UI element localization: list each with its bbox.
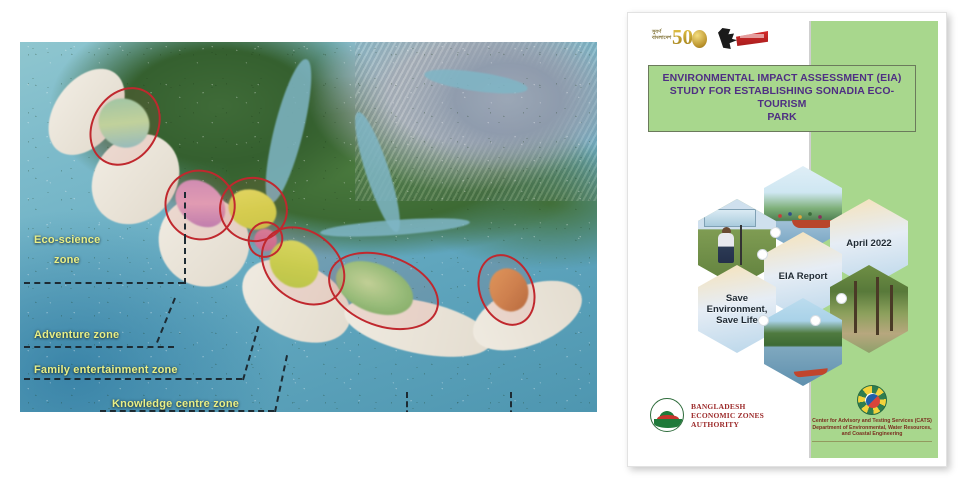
hex-connector-dot — [810, 315, 821, 326]
beza-logo-text: BANGLADESH ECONOMIC ZONES AUTHORITY — [691, 402, 764, 429]
report-title-line2: STUDY FOR ESTABLISHING SONADIA ECO-TOURI… — [653, 85, 911, 111]
eia-report-cover[interactable]: সুবর্ণবাংলাদেশ 50 ENVIRONMENTAL IMPACT A… — [627, 12, 947, 467]
mujib-silhouette-icon — [718, 28, 738, 49]
tree-trunk-icon — [876, 277, 879, 335]
zone-label-eco-science-line2: zone — [54, 254, 80, 266]
buet-seal-icon — [857, 385, 887, 415]
bangladesh-50-jubilee-logo: সুবর্ণবাংলাদেশ 50 — [652, 27, 704, 51]
jubilee-50-numeral: 50 — [672, 27, 693, 48]
zone-label-eco-science-line1: Eco-science — [34, 234, 100, 246]
hex-connector-dot — [757, 249, 768, 260]
hex-eia-report-label: EIA Report — [773, 271, 834, 282]
zone-label-family: Family entertainment zone — [34, 364, 178, 376]
mujib-borsho-logo — [718, 27, 772, 51]
hexagon-cluster: April 2022 EIA Report Save Environment, … — [696, 166, 911, 396]
hex-date-label: April 2022 — [840, 238, 897, 249]
zone-label-adventure: Adventure zone — [34, 329, 119, 341]
hex-slogan-line3: Save Life — [716, 315, 758, 326]
cats-rule-divider — [812, 441, 932, 442]
person-body-icon — [718, 233, 734, 263]
zone-label-knowledge: Knowledge centre zone — [112, 398, 239, 410]
cats-line2: Department of Environmental, Water Resou… — [812, 425, 932, 432]
tripod-icon — [740, 225, 742, 265]
hex-slogan-line1: Save — [726, 293, 748, 304]
cats-line3: and Coastal Engineering — [812, 431, 932, 438]
hex-connector-dot — [758, 315, 769, 326]
report-title-line3: PARK — [653, 111, 911, 124]
cats-line1: Center for Advisory and Testing Services… — [812, 418, 932, 425]
beza-seal-green-arc — [654, 419, 682, 428]
cover-inner-page: সুবর্ণবাংলাদেশ 50 ENVIRONMENTAL IMPACT A… — [636, 21, 938, 458]
hex-connector-dot — [770, 227, 781, 238]
jubilee-bangla-text: সুবর্ণবাংলাদেশ — [652, 29, 674, 41]
hex-slogan-line2: Environment, — [707, 304, 768, 315]
tree-trunk-icon — [854, 281, 857, 333]
report-title-banner: ENVIRONMENTAL IMPACT ASSESSMENT (EIA) ST… — [648, 65, 916, 132]
hex-connector-dot — [836, 293, 847, 304]
top-logos: সুবর্ণবাংলাদেশ 50 — [652, 27, 772, 51]
beza-line2: ECONOMIC ZONES — [691, 411, 764, 420]
beza-seal-icon — [650, 398, 684, 432]
sonadia-zoning-map: Eco-science zone Adventure zone Family e… — [20, 42, 597, 412]
beza-line3: AUTHORITY — [691, 420, 764, 429]
small-boat-icon — [794, 368, 828, 378]
cats-consultant-block: Center for Advisory and Testing Services… — [812, 385, 932, 442]
screenshot-root: Eco-science zone Adventure zone Family e… — [0, 0, 969, 496]
mujib-banner-icon — [736, 31, 768, 46]
report-title-line1: ENVIRONMENTAL IMPACT ASSESSMENT (EIA) — [653, 72, 911, 85]
jubilee-coin-icon — [692, 30, 707, 48]
beza-logo-block: BANGLADESH ECONOMIC ZONES AUTHORITY — [650, 398, 764, 432]
boat-hull-icon — [792, 220, 834, 228]
signboard-icon — [704, 209, 756, 227]
leader-eco-science — [24, 238, 224, 298]
beza-line1: BANGLADESH — [691, 402, 764, 411]
tree-trunk-icon — [890, 285, 893, 331]
